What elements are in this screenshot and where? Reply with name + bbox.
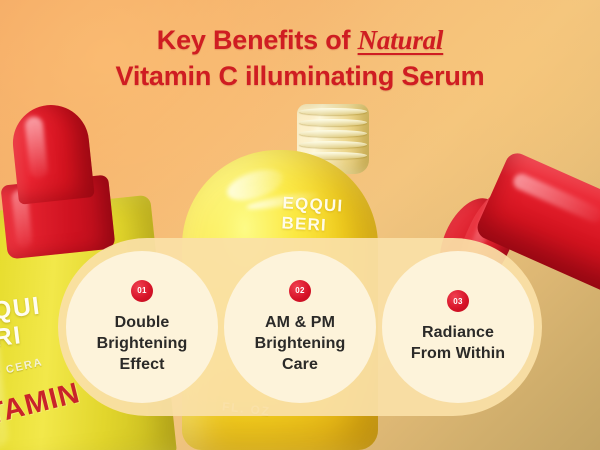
left-bottle-subtitle: DEEP CERA (0, 356, 44, 385)
benefit-label-3: Radiance From Within (403, 322, 513, 364)
headline: Key Benefits of Natural Vitamin C illumi… (0, 22, 600, 94)
benefit-label-2: AM & PM Brightening Care (247, 312, 354, 375)
promo-banner: EQQUI BERI FL. OZ EQQUI BERI DEEP CERA V… (0, 0, 600, 450)
benefit-label-1: Double Brightening Effect (89, 312, 196, 375)
benefit-card-1[interactable]: 01 Double Brightening Effect (66, 251, 218, 403)
left-bottle-vitamin-text: VITAMIN (0, 377, 84, 439)
headline-line-1-prefix: Key Benefits of (157, 25, 358, 55)
center-bottle-brand: EQQUI BERI (281, 193, 344, 235)
left-dropper-cap (9, 101, 95, 204)
benefit-card-3[interactable]: 03 Radiance From Within (382, 251, 534, 403)
headline-emphasis-natural: Natural (358, 25, 444, 55)
headline-line-2: Vitamin C illuminating Serum (0, 58, 600, 94)
benefit-badge-01: 01 (131, 280, 153, 302)
benefit-badge-02: 02 (289, 280, 311, 302)
headline-line-1: Key Benefits of Natural (0, 22, 600, 58)
benefit-card-2[interactable]: 02 AM & PM Brightening Care (224, 251, 376, 403)
benefits-container: 01 Double Brightening Effect 02 AM & PM … (58, 238, 542, 416)
benefit-badge-03: 03 (447, 290, 469, 312)
